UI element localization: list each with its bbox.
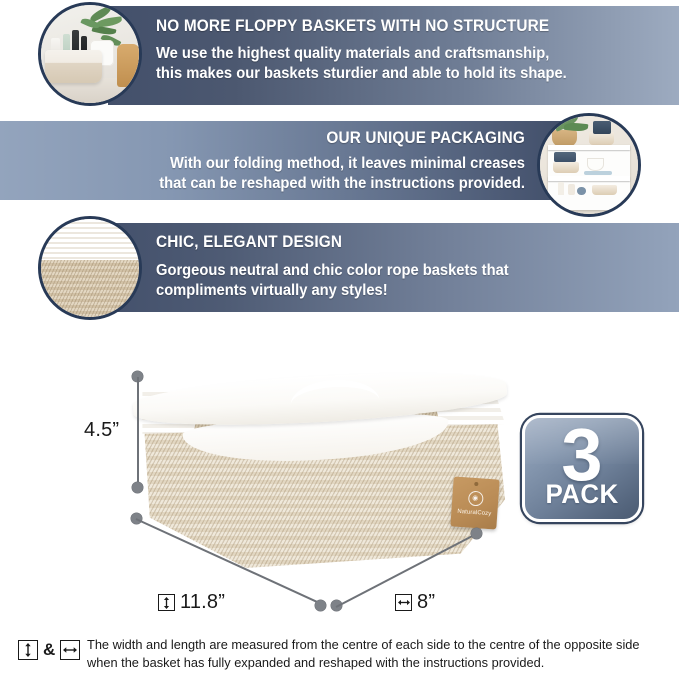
feature-body-design: Gorgeous neutral and chic color rope bas… (156, 261, 653, 301)
feature-body-line-2: that can be reshaped with the instructio… (26, 174, 525, 194)
book-icon (584, 171, 612, 175)
tag-hole (474, 482, 478, 486)
vase-icon (577, 187, 585, 195)
dim-label-height: 4.5” (84, 419, 119, 442)
jute-basket (117, 44, 139, 87)
bowl-icon (587, 158, 603, 171)
framed-art (593, 121, 611, 134)
footnote-line-2: when the basket has fully expanded and r… (87, 654, 640, 672)
feature-body-line-1: Gorgeous neutral and chic color rope bas… (156, 261, 653, 281)
feature-heading-structure: NO MORE FLOPPY BASKETS WITH NO STRUCTURE (156, 17, 642, 35)
feature-body-packaging: With our folding method, it leaves minim… (26, 154, 525, 194)
product-hang-tag: ◉ NaturalCozy (450, 476, 499, 529)
dim-value-width: 8” (417, 591, 435, 614)
brand-mark-glyph: ◉ (472, 494, 479, 501)
feature-heading-design: CHIC, ELEGANT DESIGN (156, 233, 642, 251)
footnote-icons: & (18, 636, 80, 660)
horizontal-arrow-icon (60, 640, 80, 660)
candle-icon (568, 184, 575, 195)
pack-count-badge: 3 PACK (522, 415, 642, 522)
rope-beige-section (41, 260, 139, 317)
photo-bathroom-styling (38, 2, 142, 106)
rope-basket (589, 132, 614, 146)
feature-banner-packaging: OUR UNIQUE PACKAGING With our folding me… (0, 121, 571, 200)
feature-heading-packaging: OUR UNIQUE PACKAGING (37, 129, 525, 147)
feature-body-structure: We use the highest quality materials and… (156, 44, 653, 84)
pack-count-label: PACK (545, 481, 618, 508)
rope-basket (45, 50, 102, 83)
dim-dot-width-right (471, 528, 482, 539)
horizontal-arrow-icon (395, 594, 412, 611)
vertical-arrow-icon (158, 594, 175, 611)
feature-body-line-2: compliments virtually any styles! (156, 281, 653, 301)
brand-name: NaturalCozy (457, 508, 491, 516)
vertical-arrow-icon (18, 640, 38, 660)
dim-label-width: 8” (395, 591, 435, 614)
rope-basket (553, 162, 579, 172)
book-stack (554, 152, 575, 162)
dim-dot-height-bottom (132, 482, 143, 493)
shelf-board (548, 145, 630, 150)
candle-icon (558, 182, 565, 195)
measurement-footnote: & The width and length are measured from… (18, 636, 663, 671)
rope-white-section (41, 219, 139, 260)
feature-body-line-2: this makes our baskets sturdier and able… (156, 64, 653, 84)
rope-basket (592, 185, 617, 194)
feature-body-line-1: We use the highest quality materials and… (156, 44, 653, 64)
shelf-unit (548, 145, 630, 210)
brand-mark-icon: ◉ (467, 490, 483, 506)
feature-banner-structure: NO MORE FLOPPY BASKETS WITH NO STRUCTURE… (108, 6, 679, 105)
dim-value-length: 11.8” (180, 591, 225, 614)
feature-banner-design: CHIC, ELEGANT DESIGN Gorgeous neutral an… (108, 223, 679, 312)
footnote-ampersand: & (43, 640, 55, 660)
pack-count-number: 3 (561, 425, 602, 486)
dim-line-height (137, 377, 139, 487)
dim-label-length: 11.8” (158, 591, 225, 614)
footnote-line-1: The width and length are measured from t… (87, 636, 640, 654)
dim-dot-length-right (315, 600, 326, 611)
photo-rope-texture (38, 216, 142, 320)
footnote-text: The width and length are measured from t… (87, 636, 640, 671)
dim-value-height: 4.5” (84, 419, 119, 442)
shelf-board (548, 176, 630, 181)
feature-body-line-1: With our folding method, it leaves minim… (26, 154, 525, 174)
photo-shelf-styling (537, 113, 641, 217)
